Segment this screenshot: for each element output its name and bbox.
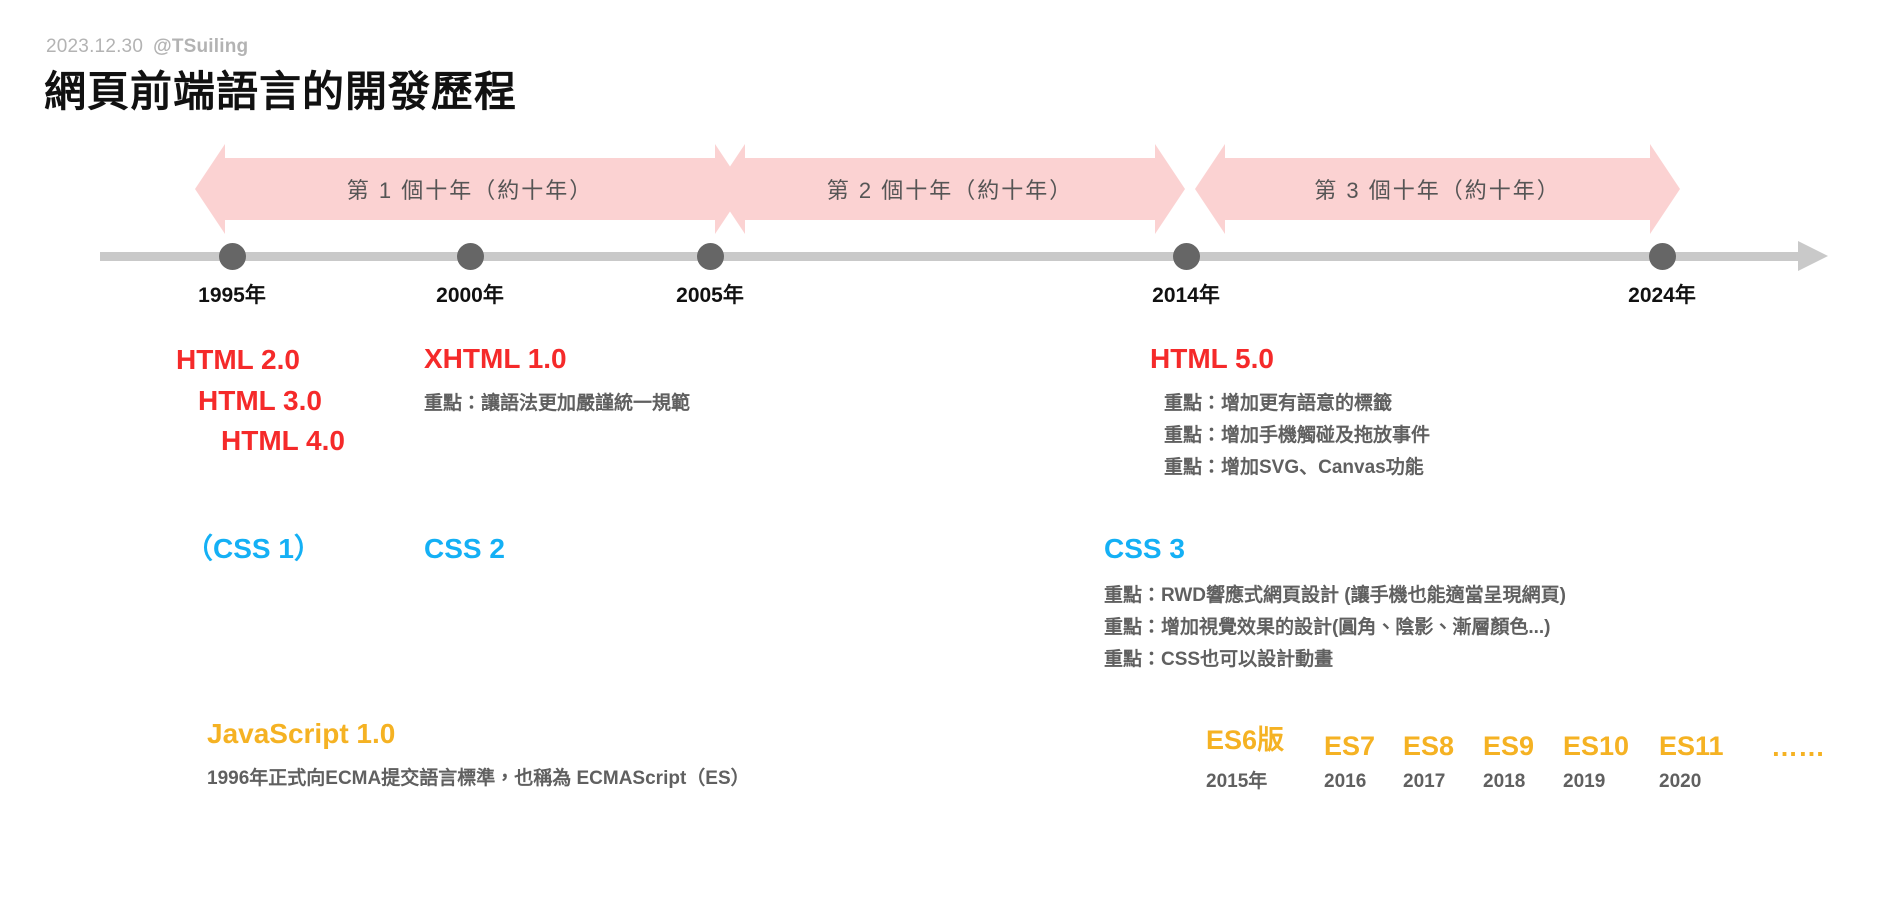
ecmascript-version-row: ES6版 2015年 ES7 2016 ES8 2017 ES9 2018 ES… bbox=[1206, 718, 1825, 793]
timeline-dot-1995 bbox=[219, 243, 246, 270]
ecmascript-more-ellipsis: …… bbox=[1771, 732, 1825, 763]
ecmascript-item-es6: ES6版 2015年 bbox=[1206, 718, 1324, 793]
decade-label: 第 1 個十年（約十年） bbox=[347, 173, 593, 205]
javascript-block: JavaScript 1.0 1996年正式向ECMA提交語言標準，也稱為 EC… bbox=[207, 715, 750, 795]
decade-arrow-2: 第 2 個十年（約十年） bbox=[745, 158, 1155, 220]
arrow-head-right-icon bbox=[1155, 144, 1185, 234]
timeline-year-label: 2014年 bbox=[1152, 279, 1220, 309]
ecmascript-item-es10: ES10 2019 bbox=[1563, 731, 1659, 793]
css3-note: 重點：CSS也可以設計動畫 bbox=[1104, 644, 1566, 676]
xhtml-block: XHTML 1.0 重點：讓語法更加嚴謹統一規範 bbox=[424, 340, 690, 420]
decade-label: 第 2 個十年（約十年） bbox=[827, 173, 1073, 205]
javascript-title: JavaScript 1.0 bbox=[207, 715, 750, 753]
decade-arrow-1: 第 1 個十年（約十年） bbox=[225, 158, 715, 220]
timeline-dot-2000 bbox=[457, 243, 484, 270]
timeline-year-label: 2000年 bbox=[436, 279, 504, 309]
xhtml-note: 重點：讓語法更加嚴謹統一規範 bbox=[424, 388, 690, 420]
timeline-year-label: 1995年 bbox=[198, 279, 266, 309]
decade-label: 第 3 個十年（約十年） bbox=[1314, 173, 1560, 205]
timeline-year-label: 2024年 bbox=[1628, 279, 1696, 309]
ecmascript-item-es11: ES11 2020 bbox=[1659, 731, 1755, 793]
decade-arrow-3: 第 3 個十年（約十年） bbox=[1225, 158, 1650, 220]
timeline-dot-2024 bbox=[1649, 243, 1676, 270]
ecmascript-version-year: 2019 bbox=[1563, 771, 1659, 793]
ecmascript-version-name: ES7 bbox=[1324, 731, 1403, 762]
arrow-head-left-icon bbox=[715, 144, 745, 234]
ecmascript-version-name: ES10 bbox=[1563, 731, 1659, 762]
javascript-note: 1996年正式向ECMA提交語言標準，也稱為 ECMAScript（ES） bbox=[207, 763, 750, 795]
html-early-versions-block: HTML 2.0 HTML 3.0 HTML 4.0 bbox=[176, 340, 345, 462]
arrow-head-right-icon bbox=[1650, 144, 1680, 234]
css1-block: （CSS 1） bbox=[185, 530, 322, 568]
arrow-head-left-icon bbox=[1195, 144, 1225, 234]
infographic-canvas: 2023.12.30@TSuiling 網頁前端語言的開發歷程 第 1 個十年（… bbox=[0, 0, 1900, 900]
ecmascript-item-es8: ES8 2017 bbox=[1403, 731, 1483, 793]
ecmascript-item-es9: ES9 2018 bbox=[1483, 731, 1563, 793]
arrow-head-left-icon bbox=[195, 144, 225, 234]
ecmascript-version-name: ES11 bbox=[1659, 731, 1755, 762]
html-2-label: HTML 2.0 bbox=[176, 340, 345, 381]
page-title: 網頁前端語言的開發歷程 bbox=[44, 58, 517, 119]
xhtml-title: XHTML 1.0 bbox=[424, 340, 690, 378]
css2-block: CSS 2 bbox=[424, 530, 505, 568]
css2-title: CSS 2 bbox=[424, 530, 505, 568]
css3-note: 重點：RWD響應式網頁設計 (讓手機也能適當呈現網頁) bbox=[1104, 580, 1566, 612]
html5-note: 重點：增加手機觸碰及拖放事件 bbox=[1164, 420, 1430, 452]
css3-note: 重點：增加視覺效果的設計(圓角、陰影、漸層顏色...) bbox=[1104, 612, 1566, 644]
css3-block: CSS 3 重點：RWD響應式網頁設計 (讓手機也能適當呈現網頁) 重點：增加視… bbox=[1104, 530, 1566, 677]
ecmascript-version-name: ES6版 bbox=[1206, 718, 1324, 757]
ecmascript-version-year: 2017 bbox=[1403, 771, 1483, 793]
timeline-year-label: 2005年 bbox=[676, 279, 744, 309]
ecmascript-version-year: 2015年 bbox=[1206, 766, 1324, 793]
html5-title: HTML 5.0 bbox=[1150, 340, 1430, 378]
ecmascript-version-year: 2018 bbox=[1483, 771, 1563, 793]
css3-title: CSS 3 bbox=[1104, 530, 1566, 568]
timeline-dot-2014 bbox=[1173, 243, 1200, 270]
byline-handle: @TSuiling bbox=[153, 36, 248, 57]
timeline-axis-arrow-icon bbox=[1798, 241, 1828, 271]
ecmascript-version-year: 2016 bbox=[1324, 771, 1403, 793]
timeline-dot-2005 bbox=[697, 243, 724, 270]
css1-title: （CSS 1） bbox=[185, 530, 322, 568]
html-3-label: HTML 3.0 bbox=[176, 381, 345, 422]
ecmascript-item-es7: ES7 2016 bbox=[1324, 731, 1403, 793]
ecmascript-version-year: 2020 bbox=[1659, 771, 1755, 793]
html5-block: HTML 5.0 重點：增加更有語意的標籤 重點：增加手機觸碰及拖放事件 重點：… bbox=[1150, 340, 1430, 485]
ecmascript-version-name: ES8 bbox=[1403, 731, 1483, 762]
byline: 2023.12.30@TSuiling bbox=[46, 36, 248, 58]
html5-note: 重點：增加SVG、Canvas功能 bbox=[1164, 452, 1430, 484]
ecmascript-version-name: ES9 bbox=[1483, 731, 1563, 762]
html5-note: 重點：增加更有語意的標籤 bbox=[1164, 388, 1430, 420]
timeline-axis bbox=[100, 252, 1800, 261]
ecmascript-block: ES6版 2015年 ES7 2016 ES8 2017 ES9 2018 ES… bbox=[1206, 718, 1825, 793]
byline-date: 2023.12.30 bbox=[46, 36, 143, 57]
html-4-label: HTML 4.0 bbox=[176, 421, 345, 462]
